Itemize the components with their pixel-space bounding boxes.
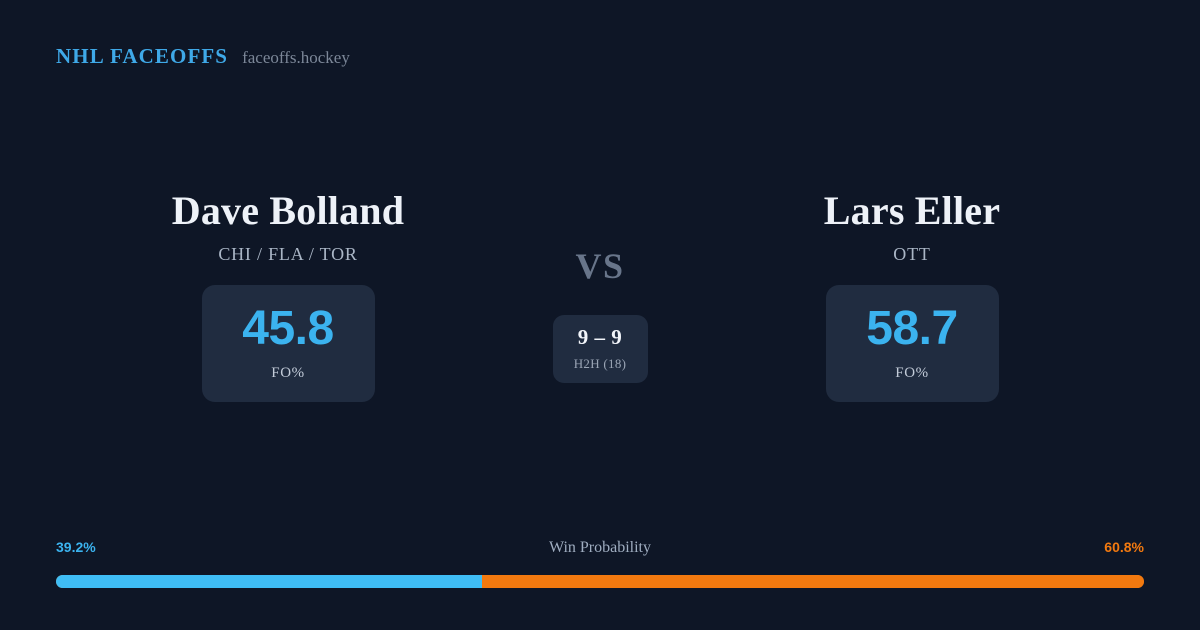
head-to-head-label: H2H (18) xyxy=(574,356,627,372)
versus-label: VS xyxy=(500,248,700,284)
player-right-teams: OTT xyxy=(702,244,1122,265)
win-probability-bar-left-segment xyxy=(56,575,482,588)
win-probability-bar xyxy=(56,575,1144,588)
player-left-stat-value: 45.8 xyxy=(242,305,333,353)
player-right-stat-label: FO% xyxy=(895,365,928,382)
brand-logo: NHL FACEOFFS xyxy=(56,46,228,67)
win-probability-labels: 39.2% Win Probability 60.8% xyxy=(56,540,1144,562)
player-right-stat-card: 58.7 FO% xyxy=(826,285,999,402)
site-header: NHL FACEOFFS faceoffs.hockey xyxy=(56,46,350,67)
player-left-name: Dave Bolland xyxy=(78,190,498,232)
player-left: Dave Bolland CHI / FLA / TOR 45.8 FO% xyxy=(78,190,498,402)
win-probability-title: Win Probability xyxy=(56,540,1144,557)
win-probability-section: 39.2% Win Probability 60.8% xyxy=(56,540,1144,588)
player-right-stat-value: 58.7 xyxy=(866,305,957,353)
player-right-name: Lars Eller xyxy=(702,190,1122,232)
win-probability-bar-right-segment xyxy=(482,575,1144,588)
player-right: Lars Eller OTT 58.7 FO% xyxy=(702,190,1122,402)
versus-block: VS 9 – 9 H2H (18) xyxy=(500,190,700,383)
matchup-section: Dave Bolland CHI / FLA / TOR 45.8 FO% VS… xyxy=(0,190,1200,430)
player-left-stat-card: 45.8 FO% xyxy=(202,285,375,402)
player-left-teams: CHI / FLA / TOR xyxy=(78,244,498,265)
head-to-head-card: 9 – 9 H2H (18) xyxy=(553,315,648,383)
brand-domain: faceoffs.hockey xyxy=(242,49,350,66)
scorecard-graphic: NHL FACEOFFS faceoffs.hockey Dave Bollan… xyxy=(0,0,1200,630)
win-probability-right-value: 60.8% xyxy=(1104,540,1144,554)
head-to-head-score: 9 – 9 xyxy=(578,327,623,348)
player-left-stat-label: FO% xyxy=(271,365,304,382)
